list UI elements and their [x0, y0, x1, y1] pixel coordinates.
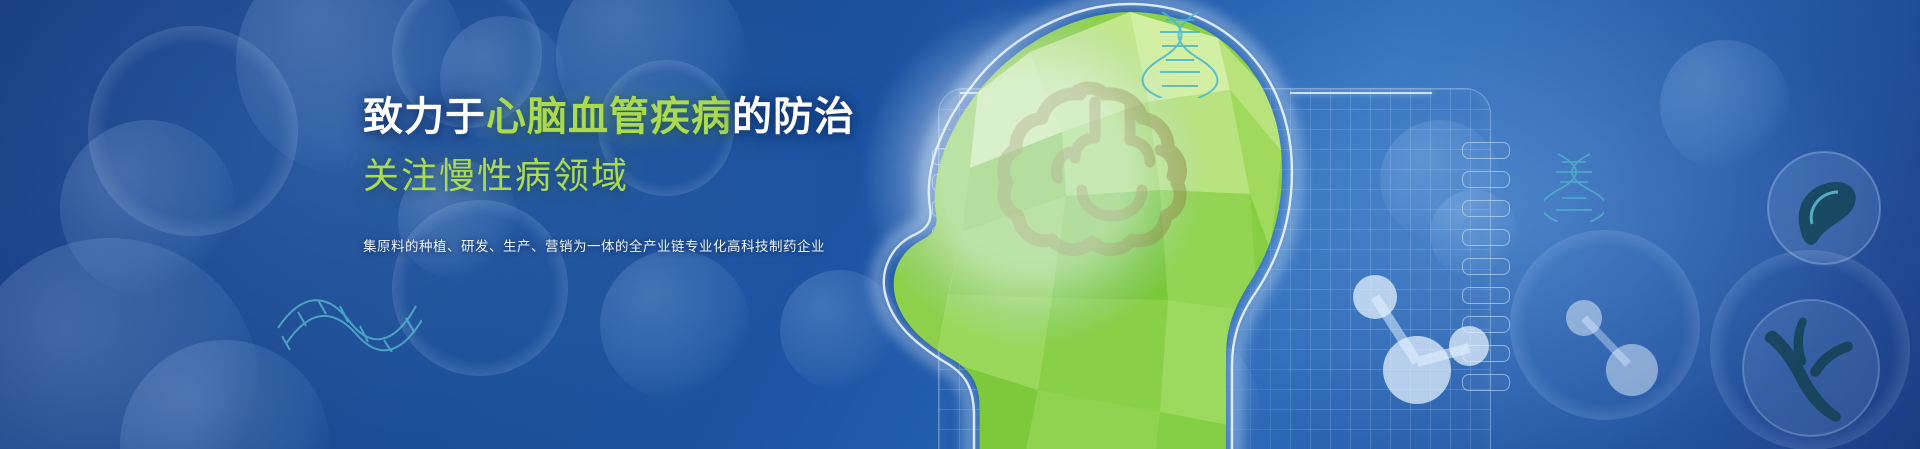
hud-pill — [1462, 316, 1510, 333]
hud-pill — [1462, 287, 1510, 304]
page-tagline: 集原料的种植、研发、生产、营销为一体的全产业链专业化高科技制药企业 — [363, 235, 1003, 255]
page-subtitle: 关注慢性病领域 — [363, 147, 1003, 199]
hero-banner: 致力于心脑血管疾病的防治 关注慢性病领域 集原料的种植、研发、生产、营销为一体的… — [0, 0, 1920, 449]
hud-pill — [1462, 258, 1510, 275]
hud-pill — [1462, 142, 1510, 159]
hud-pill — [1462, 229, 1510, 246]
bokeh-circle — [88, 26, 298, 236]
bokeh-circle — [1510, 230, 1700, 420]
hud-pill — [1462, 345, 1510, 362]
dna-helix-bottom-left — [272, 262, 422, 352]
molecule-icon-right — [1558, 292, 1678, 412]
bokeh-circle — [1710, 250, 1910, 449]
bokeh-circle — [0, 238, 260, 449]
hud-pill-column-right — [1462, 142, 1510, 391]
dna-helix-mid-right — [1544, 152, 1604, 222]
bokeh-circle — [1660, 40, 1790, 170]
bokeh-circle — [120, 340, 330, 449]
hud-pill — [1462, 200, 1510, 217]
hud-pill — [1462, 374, 1510, 391]
cell-icon-bottom-right — [1736, 290, 1886, 440]
headline-accent: 心脑血管疾病 — [486, 95, 732, 139]
hud-pill — [1462, 171, 1510, 188]
bokeh-circle — [60, 120, 236, 296]
page-title: 致力于心脑血管疾病的防治 — [363, 96, 1003, 138]
bokeh-circle — [600, 250, 750, 400]
headline-lead: 致力于 — [363, 95, 486, 139]
cell-icon-top-right — [1754, 148, 1894, 268]
headline-tail: 的防治 — [732, 95, 855, 139]
hero-copy: 致力于心脑血管疾病的防治 关注慢性病领域 集原料的种植、研发、生产、营销为一体的… — [363, 96, 1003, 255]
